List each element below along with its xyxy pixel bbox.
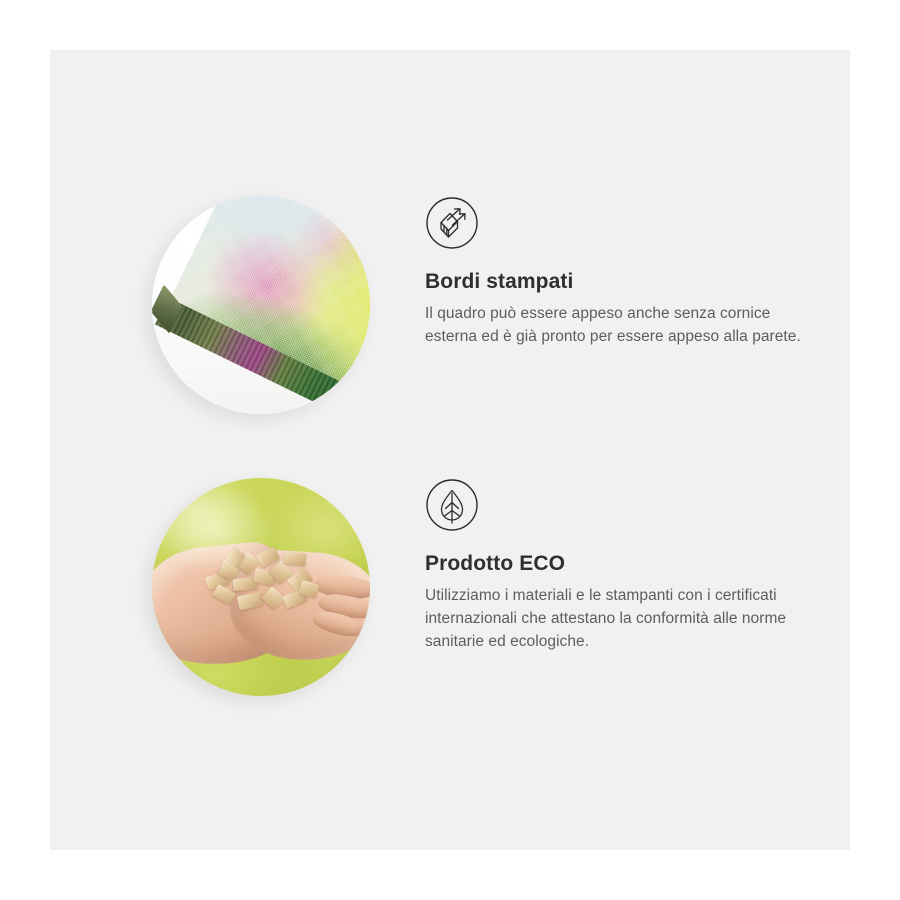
wood-chip — [237, 592, 263, 611]
feature-2-content: Prodotto ECO Utilizziamo i materiali e l… — [425, 478, 810, 653]
feature-eco-product: Prodotto ECO Utilizziamo i materiali e l… — [50, 478, 850, 748]
canvas-print-edge-photo — [152, 196, 370, 414]
feature-1-content: Bordi stampati Il quadro può essere appe… — [425, 196, 810, 348]
printed-edges-icon — [425, 196, 479, 250]
content-panel: Bordi stampati Il quadro può essere appe… — [50, 50, 850, 850]
wood-chip-pile — [200, 548, 326, 624]
wood-chip — [261, 586, 285, 610]
feature-title: Bordi stampati — [425, 268, 810, 296]
leaf-icon — [425, 478, 479, 532]
cupped-hands — [152, 540, 370, 670]
product-feature-page: Bordi stampati Il quadro può essere appe… — [0, 0, 900, 900]
feature-title: Prodotto ECO — [425, 550, 810, 578]
wood-chip — [283, 551, 307, 567]
hands-with-wood-chips-photo — [152, 478, 370, 696]
eco-scene — [152, 478, 370, 696]
feature-printed-edges: Bordi stampati Il quadro può essere appe… — [50, 196, 850, 456]
canvas-scene — [152, 196, 370, 414]
feature-description: Il quadro può essere appeso anche senza … — [425, 302, 810, 348]
feature-description: Utilizziamo i materiali e le stampanti c… — [425, 584, 810, 653]
